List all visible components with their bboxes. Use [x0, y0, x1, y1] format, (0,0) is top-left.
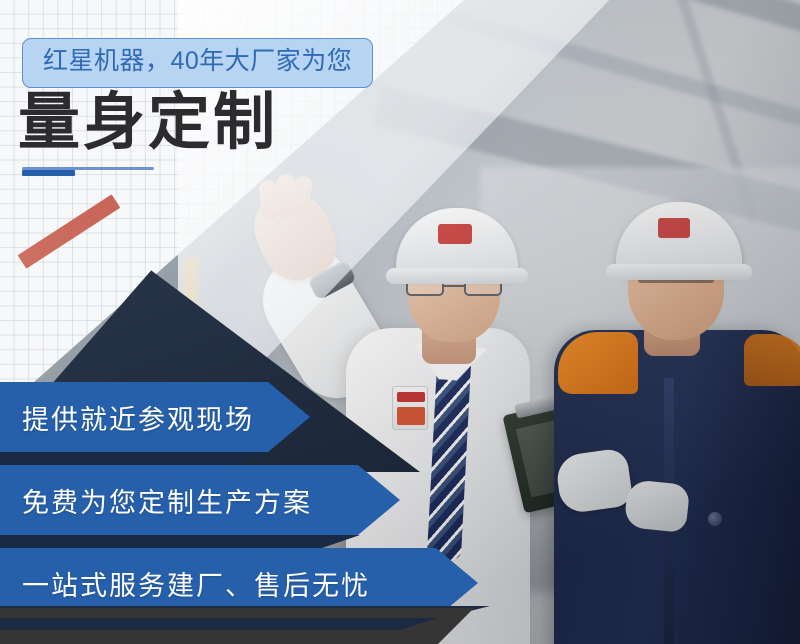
- feature-bar-shadow: [0, 452, 270, 465]
- page-title: 量身定制: [18, 90, 278, 157]
- feature-bar-shadow: [0, 618, 438, 630]
- jacket-button: [708, 512, 722, 526]
- title-underline-thick: [22, 170, 75, 176]
- banner-canvas: 红星机器，40年大厂家为您 量身定制 提供就近参观现场 免费为您定制生产方案 一…: [0, 0, 800, 644]
- feature-bar-2[interactable]: 免费为您定制生产方案: [0, 465, 400, 535]
- white-glove: [624, 479, 691, 533]
- feature-bar-label: 免费为您定制生产方案: [0, 481, 312, 520]
- orange-shoulder-panel: [744, 334, 800, 386]
- chest-logo-patch: [392, 386, 428, 430]
- feature-bar-shadow: [0, 535, 360, 548]
- tagline-badge: 红星机器，40年大厂家为您: [22, 38, 373, 88]
- white-hard-hat: [616, 202, 742, 274]
- feature-bar-label: 一站式服务建厂、售后无忧: [0, 564, 370, 603]
- person-worker: [540, 182, 800, 644]
- feature-bar-1[interactable]: 提供就近参观现场: [0, 382, 310, 452]
- helmet-logo: [658, 218, 690, 238]
- feature-bar-label: 提供就近参观现场: [0, 398, 254, 437]
- helmet-logo: [438, 224, 472, 244]
